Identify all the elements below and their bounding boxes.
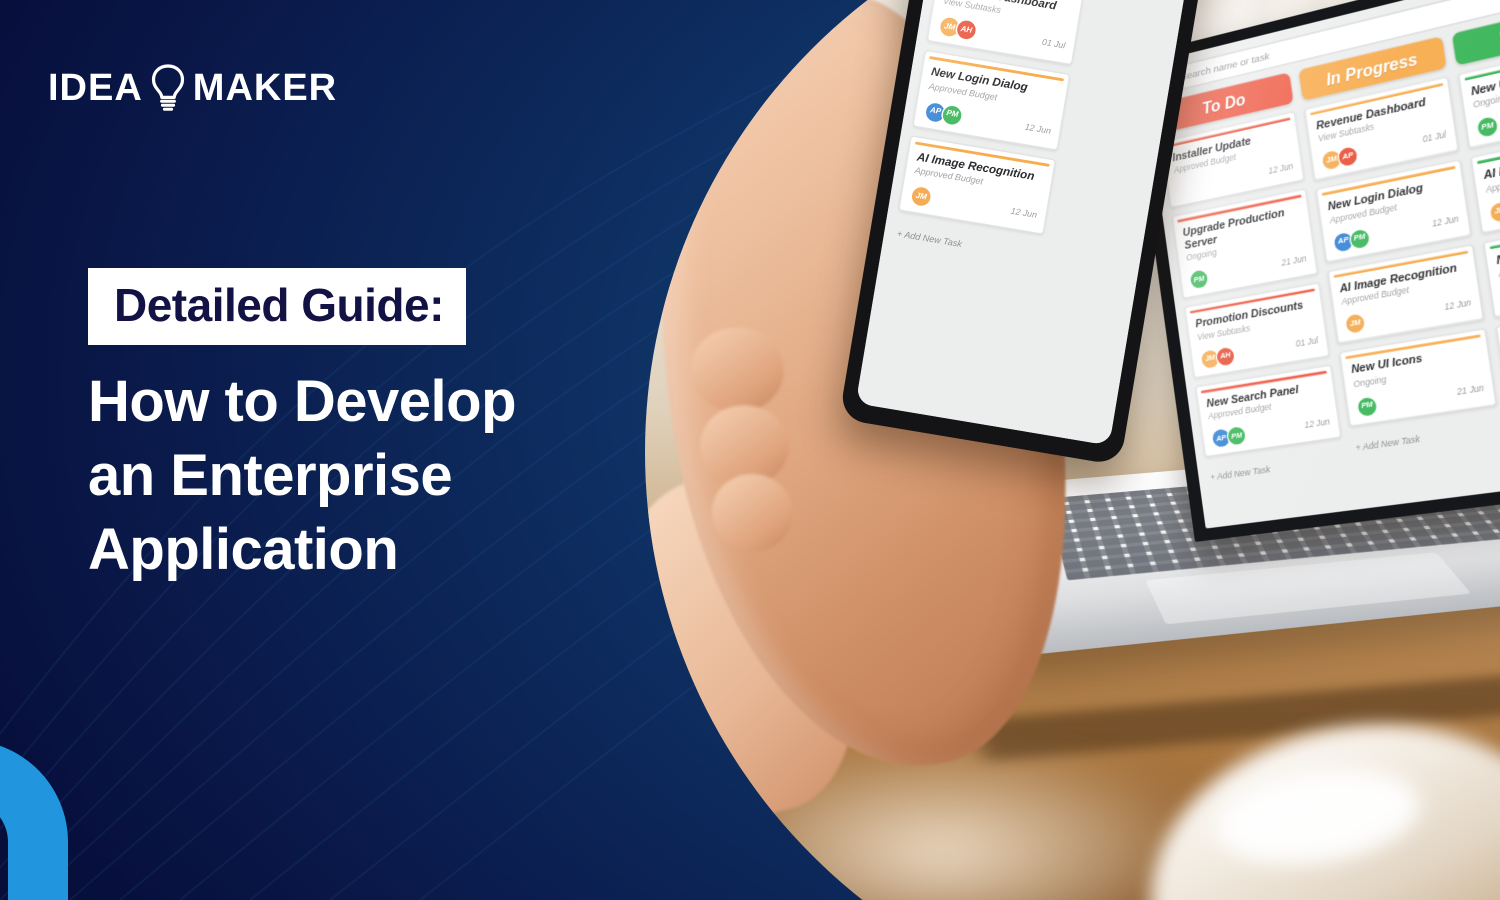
task-due-date: 12 Jun — [1444, 299, 1472, 313]
task-due-date: 01 Jul — [1042, 38, 1067, 52]
assignee-avatars: JMAP — [1320, 145, 1360, 173]
avatar[interactable]: AH — [955, 18, 980, 43]
assignee-avatars: JMAH — [1199, 345, 1236, 371]
task-due-date: 01 Jul — [1295, 336, 1318, 349]
title-line-3: Application — [88, 513, 708, 587]
assignee-avatars: PM — [1188, 268, 1210, 291]
headline-block: Detailed Guide: How to Develop an Enterp… — [88, 268, 708, 586]
finger — [711, 473, 795, 553]
laptop-screen[interactable]: Search name or task X To DoInstaller Upd… — [1141, 0, 1500, 529]
title-line-2: an Enterprise — [88, 439, 708, 513]
add-new-task-button[interactable]: + Add New Task — [1210, 456, 1346, 484]
brand-logo[interactable]: IDEA MAKER — [48, 62, 337, 114]
laptop-kanban-board[interactable]: Search name or task X To DoInstaller Upd… — [1141, 0, 1500, 529]
column-cards: Revenue DashboardView SubtasksJMAH01 Jul… — [892, 0, 1086, 272]
task-due-date: 12 Jun — [1431, 215, 1459, 230]
avatar[interactable]: PM — [1475, 115, 1500, 141]
task-card[interactable]: Promotion DiscountsView SubtasksJMAH01 J… — [1184, 283, 1330, 379]
avatar[interactable]: JM — [1488, 199, 1500, 224]
avatar[interactable]: PM — [941, 103, 966, 128]
assignee-avatars: APPM — [1332, 227, 1372, 254]
task-due-date: 21 Jun — [1456, 384, 1484, 398]
avatar[interactable]: JM — [1343, 312, 1366, 336]
task-card[interactable]: AI Image RecognitionApproved BudgetJM12 … — [1327, 244, 1484, 345]
assignee-avatars: APPM — [1210, 425, 1247, 450]
add-new-task-button[interactable]: + Add New Task — [1355, 423, 1500, 453]
task-card[interactable]: Upgrade Production ServerOngoingPM21 Jun — [1171, 189, 1318, 300]
assignee-avatars: JM — [1488, 199, 1500, 224]
add-new-task-button[interactable]: + Add New Task — [897, 230, 1041, 264]
hero-photo-circle: Search name or task X To DoInstaller Upd… — [645, 0, 1500, 900]
task-due-date: 01 Jul — [1422, 132, 1447, 147]
assignee-avatars: PM — [1475, 115, 1500, 141]
phone-columns: In ProgressRevenue DashboardView Subtask… — [883, 0, 1190, 288]
task-card[interactable]: New Login DialogApproved BudgetAPPM12 Ju… — [913, 50, 1071, 151]
task-due-date: 12 Jun — [1025, 123, 1053, 137]
task-due-date: 12 Jun — [1304, 418, 1330, 431]
logo-text-idea: IDEA — [48, 69, 143, 107]
kanban-column: In ProgressRevenue DashboardView Subtask… — [892, 0, 1092, 272]
accent-swoosh — [0, 700, 108, 900]
lightbulb-icon — [147, 62, 189, 114]
task-due-date: 21 Jun — [1281, 255, 1307, 269]
task-card[interactable]: AI Image RecognitionApproved BudgetJM12 … — [899, 135, 1057, 236]
title-line-1: How to Develop — [88, 365, 708, 439]
logo-text-maker: MAKER — [193, 69, 337, 107]
banner-canvas: Search name or task X To DoInstaller Upd… — [0, 0, 1500, 900]
avatar[interactable]: JM — [910, 185, 935, 210]
avatar[interactable]: PM — [1355, 395, 1379, 419]
assignee-avatars: APPM — [924, 100, 965, 127]
assignee-avatars: JMAH — [938, 16, 979, 43]
avatar[interactable]: PM — [1188, 268, 1210, 291]
eyebrow-label: Detailed Guide: — [88, 268, 466, 345]
task-due-date: 12 Jun — [1011, 207, 1039, 221]
task-title: New Login Dialog — [1495, 229, 1500, 267]
assignee-avatars: JM — [910, 185, 935, 210]
task-due-date: 12 Jun — [1268, 163, 1294, 178]
assignee-avatars: JM — [1343, 312, 1366, 336]
task-card[interactable]: New UI IconsOngoingPM21 Jun — [1339, 328, 1497, 426]
page-title: How to Develop an Enterprise Application — [88, 365, 708, 586]
assignee-avatars: PM — [1355, 395, 1379, 419]
task-card[interactable]: New Search PanelApproved BudgetAPPM12 Ju… — [1195, 364, 1342, 458]
